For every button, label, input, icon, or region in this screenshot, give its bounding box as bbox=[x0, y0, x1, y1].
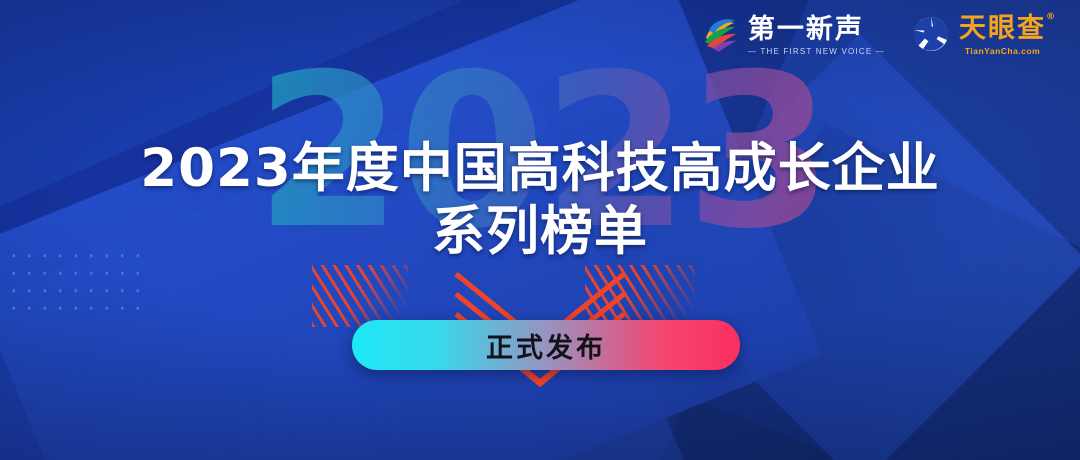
diyixinsheng-name: 第一新声 bbox=[748, 16, 885, 44]
tianyancha-eye-logo-icon bbox=[911, 14, 951, 59]
release-status-label: 正式发布 bbox=[486, 326, 606, 365]
announcement-banner: 2023 2023年度中国高科技高成长企业 系列榜单 正式发布 bbox=[0, 0, 1080, 460]
tianyancha-text: 天眼查® TianYanCha.com bbox=[959, 15, 1046, 57]
page-title: 2023年度中国高科技高成长企业 系列榜单 bbox=[0, 138, 1080, 264]
trademark-icon: ® bbox=[1046, 13, 1055, 22]
diyixinsheng-tagline: — THE FIRST NEW VOICE — bbox=[748, 46, 885, 57]
tianyancha-tagline: TianYanCha.com bbox=[959, 46, 1046, 58]
diyixinsheng-text: 第一新声 — THE FIRST NEW VOICE — bbox=[748, 16, 885, 58]
tianyancha-name-label: 天眼查 bbox=[959, 13, 1046, 44]
release-status-badge[interactable]: 正式发布 bbox=[352, 320, 740, 370]
tianyancha-name: 天眼查® bbox=[959, 15, 1046, 43]
diyixinsheng-swirl-logo-icon bbox=[700, 14, 740, 59]
logo-group: 第一新声 — THE FIRST NEW VOICE — 天眼查® bbox=[700, 14, 1046, 59]
logo-tianyancha[interactable]: 天眼查® TianYanCha.com bbox=[911, 14, 1046, 59]
headline-line-1: 2023年度中国高科技高成长企业 bbox=[0, 138, 1080, 200]
logo-diyixinsheng[interactable]: 第一新声 — THE FIRST NEW VOICE — bbox=[700, 14, 885, 59]
headline-line-2: 系列榜单 bbox=[0, 200, 1080, 264]
